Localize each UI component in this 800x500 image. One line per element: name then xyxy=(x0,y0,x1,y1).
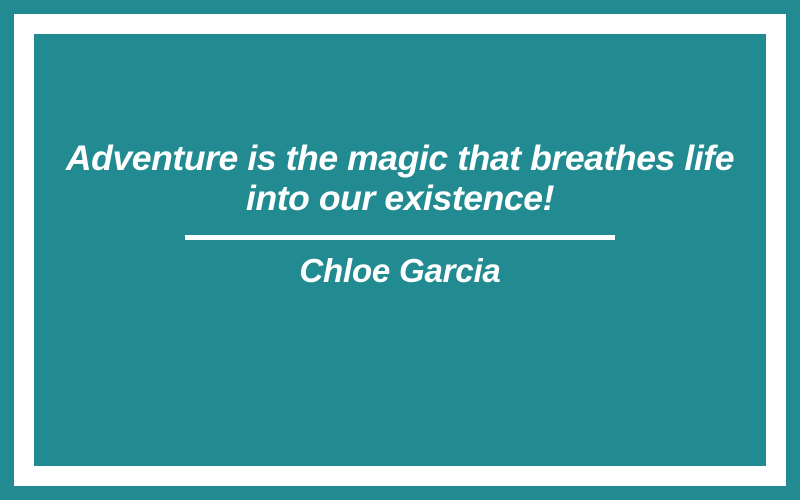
quote-card: Adventure is the magic that breathes lif… xyxy=(0,0,800,500)
quote-line-2: into our existence! xyxy=(40,178,760,218)
card-white-border-frame: Adventure is the magic that breathes lif… xyxy=(14,14,786,486)
card-inner-area: Adventure is the magic that breathes lif… xyxy=(34,34,766,466)
quote-line-1: Adventure is the magic that breathes lif… xyxy=(40,138,760,178)
author-name: Chloe Garcia xyxy=(34,249,766,293)
quote-divider xyxy=(185,235,615,240)
quote-text-block: Adventure is the magic that breathes lif… xyxy=(34,138,766,218)
